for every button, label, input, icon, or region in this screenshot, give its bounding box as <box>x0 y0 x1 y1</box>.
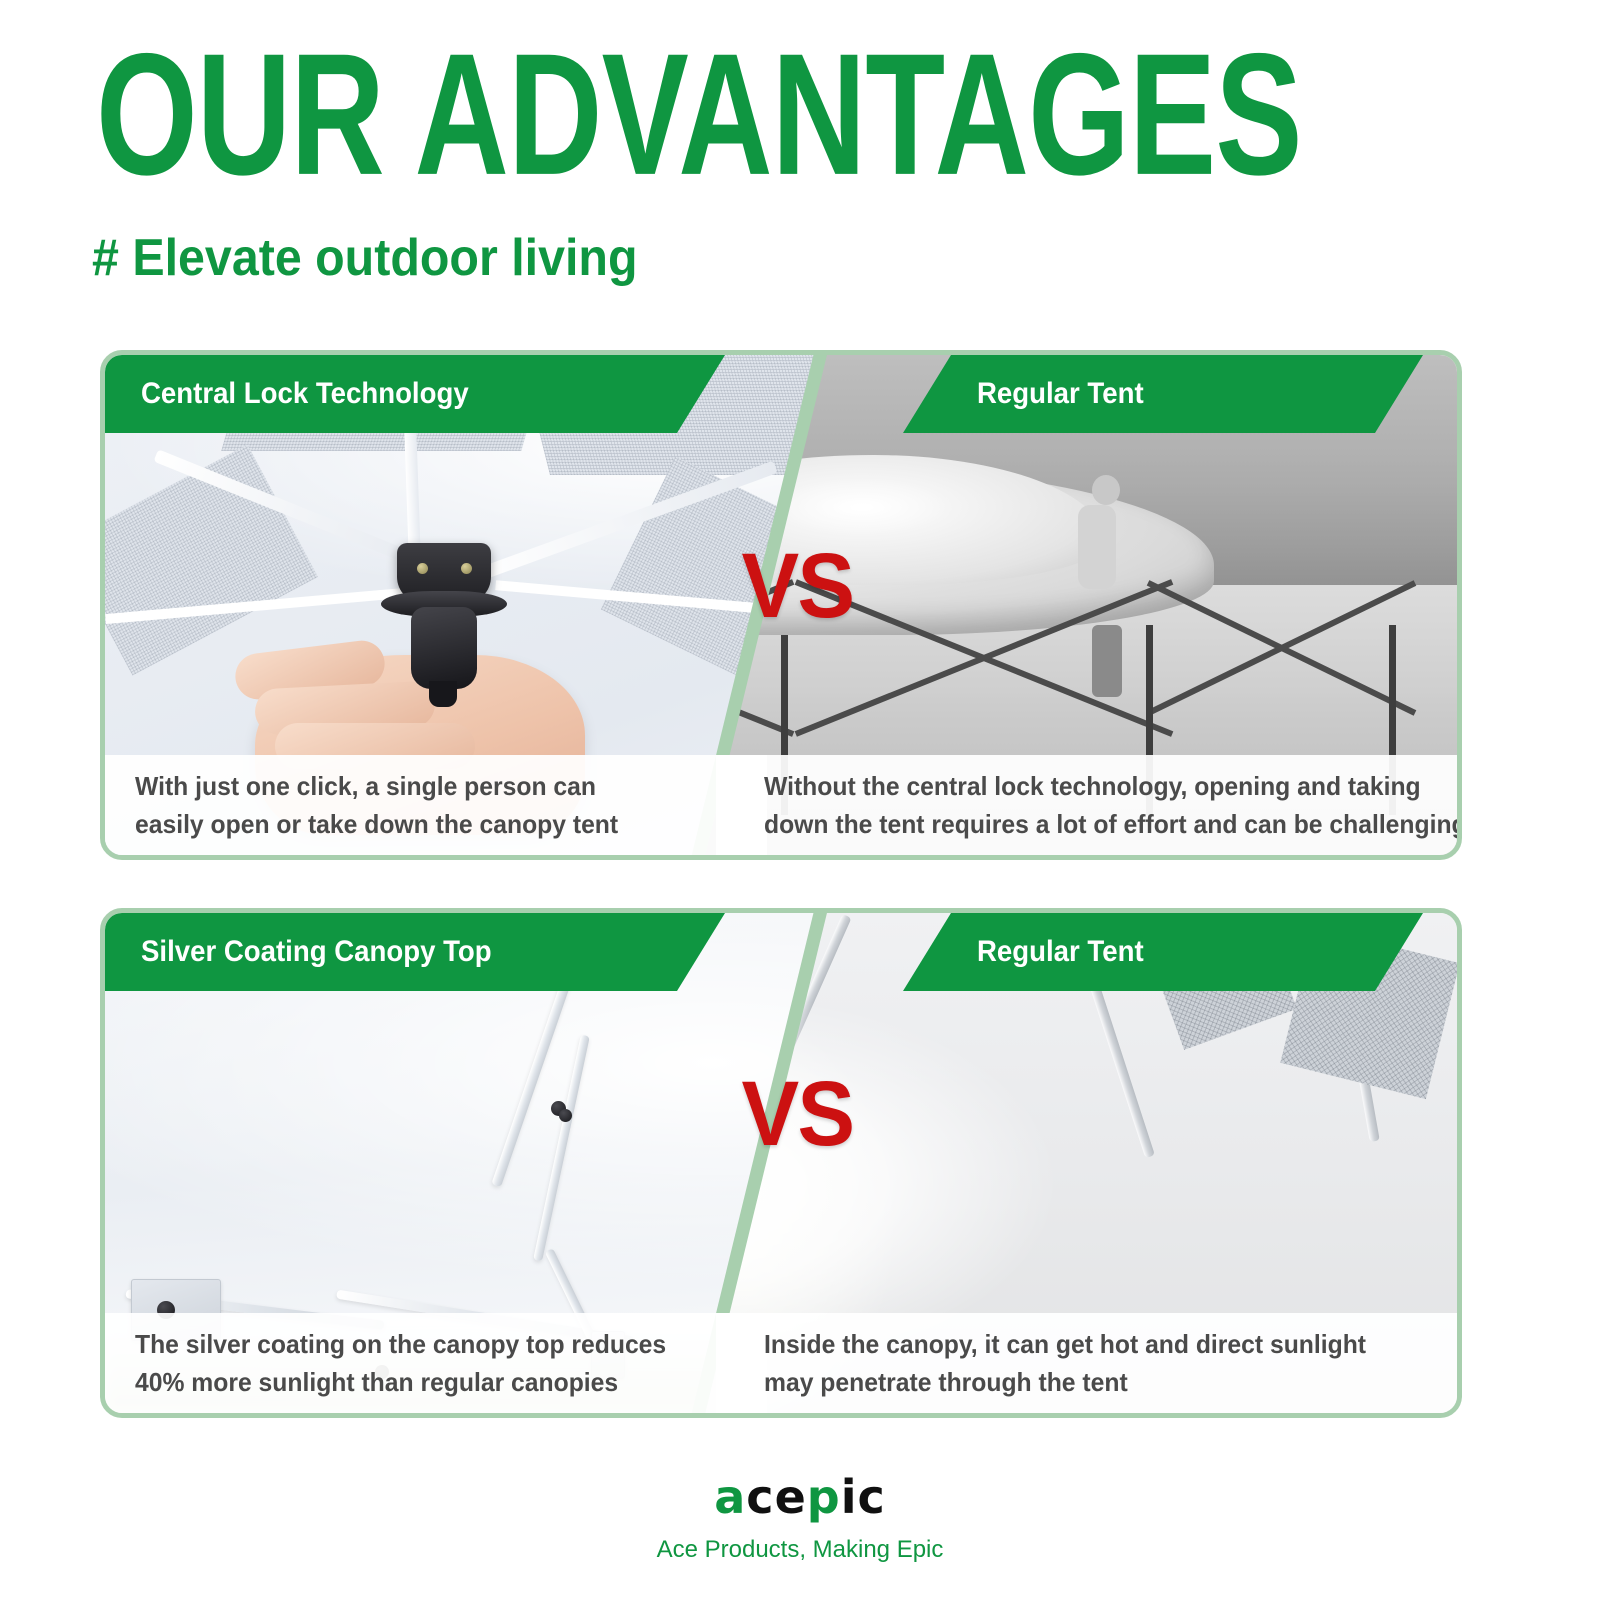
logo-letters-ce: ce <box>746 1470 806 1524</box>
page-header: OUR ADVANTAGES # Elevate outdoor living <box>0 0 1600 330</box>
ribbon-label: Regular Tent <box>977 935 1144 969</box>
infographic-page: OUR ADVANTAGES # Elevate outdoor living <box>0 0 1600 1600</box>
ribbon-silver-coating-canopy-top: Silver Coating Canopy Top <box>105 913 725 991</box>
logo-letters-ic: ic <box>841 1470 886 1524</box>
caption-line: easily open or take down the canopy tent <box>135 805 736 843</box>
caption-silver-coating: The silver coating on the canopy top red… <box>105 1313 767 1413</box>
ribbon-regular-tent-2: Regular Tent <box>903 913 1423 991</box>
acepic-logo: acepic <box>714 1470 886 1524</box>
brand-tagline: Ace Products, Making Epic <box>657 1536 944 1564</box>
caption-central-lock: With just one click, a single person can… <box>105 755 767 855</box>
caption-line: Inside the canopy, it can get hot and di… <box>764 1325 1422 1363</box>
page-title: OUR ADVANTAGES <box>96 28 1302 201</box>
ribbon-label: Regular Tent <box>977 377 1144 411</box>
caption-line: The silver coating on the canopy top red… <box>135 1325 736 1363</box>
logo-letter-a: a <box>714 1470 746 1524</box>
caption-line: Without the central lock technology, ope… <box>764 767 1422 805</box>
ribbon-label: Silver Coating Canopy Top <box>141 935 492 969</box>
caption-regular-tent-1: Without the central lock technology, ope… <box>716 755 1457 855</box>
logo-letter-p: p <box>807 1470 841 1524</box>
ribbon-label: Central Lock Technology <box>141 377 469 411</box>
caption-line: down the tent requires a lot of effort a… <box>764 805 1422 843</box>
ribbon-central-lock-technology: Central Lock Technology <box>105 355 725 433</box>
caption-regular-tent-2: Inside the canopy, it can get hot and di… <box>716 1313 1457 1413</box>
ribbon-regular-tent-1: Regular Tent <box>903 355 1423 433</box>
caption-line: With just one click, a single person can <box>135 767 736 805</box>
vs-badge-2: VS <box>742 1068 854 1160</box>
vs-badge-1: VS <box>742 540 854 632</box>
page-footer: acepic Ace Products, Making Epic <box>0 1470 1600 1600</box>
page-subtitle: # Elevate outdoor living <box>92 228 638 288</box>
caption-line: may penetrate through the tent <box>764 1363 1422 1401</box>
caption-line: 40% more sunlight than regular canopies <box>135 1363 736 1401</box>
